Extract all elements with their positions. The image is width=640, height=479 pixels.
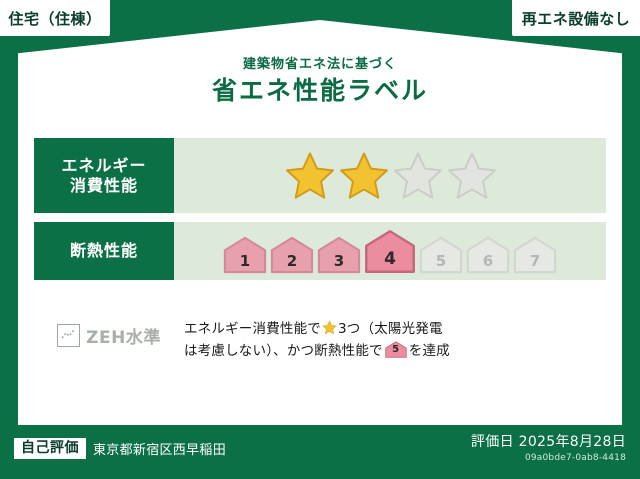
energy-performance-row: エネルギー 消費性能	[34, 138, 606, 213]
grade-badge: 2	[270, 236, 314, 274]
evaluation-date: 評価日 2025年8月28日	[471, 433, 626, 451]
inline-star-icon	[322, 320, 337, 335]
energy-performance-value	[174, 138, 606, 213]
grade-badge: 3	[317, 236, 361, 274]
note-text-part3: を達成	[409, 343, 450, 359]
insulation-label-line1: 断熱性能	[70, 241, 138, 261]
renewable-equipment-label: 再エネ設備なし	[522, 8, 631, 29]
star-rating	[284, 150, 498, 202]
evaluation-date-value: 2025年8月28日	[519, 434, 626, 450]
renewable-equipment-badge: 再エネ設備なし	[512, 0, 640, 36]
building-type-badge: 住宅（住棟）	[0, 0, 110, 36]
title-main: 省エネ性能ラベル	[18, 75, 622, 108]
insulation-performance-value: 1234567	[174, 222, 606, 280]
grade-badge: 7	[513, 236, 557, 274]
energy-label-line2: 消費性能	[70, 176, 138, 196]
star-empty-icon	[392, 150, 444, 202]
footer-right-group: 評価日 2025年8月28日 09a0bde7-0ab8-4418	[471, 433, 626, 463]
note-text-part2: は考慮しない）、かつ断熱性能で	[184, 343, 383, 359]
footer-left-group: 自己評価 東京都新宿区西早稲田	[14, 438, 226, 459]
insulation-performance-row: 断熱性能 1234567	[34, 222, 606, 280]
achievement-description: エネルギー消費性能で3つ（太陽光発電は考慮しない）、かつ断熱性能で5を達成	[184, 316, 606, 363]
star-empty-icon	[446, 150, 498, 202]
star-filled-icon	[284, 150, 336, 202]
page-title: 建築物省エネ法に基づく 省エネ性能ラベル	[18, 57, 622, 107]
grade-scale: 1234567	[223, 229, 557, 274]
insulation-performance-label: 断熱性能	[34, 222, 174, 280]
star-filled-icon	[338, 150, 390, 202]
inline-grade-value: 5	[385, 342, 407, 359]
property-address: 東京都新宿区西早稲田	[93, 439, 226, 458]
energy-performance-label: 住宅（住棟） 再エネ設備なし 建築物省エネ法に基づく 省エネ性能ラベル エネルギ…	[0, 0, 640, 479]
evaluation-date-label: 評価日	[471, 434, 514, 450]
self-evaluation-badge: 自己評価	[14, 438, 86, 459]
energy-label-line1: エネルギー	[61, 156, 146, 176]
energy-performance-label: エネルギー 消費性能	[34, 138, 174, 213]
document-id: 09a0bde7-0ab8-4418	[471, 453, 626, 463]
building-type-label: 住宅（住棟）	[8, 8, 101, 29]
zeh-standard-label: ZEH水準	[86, 323, 161, 348]
grade-badge: 4	[364, 229, 416, 274]
note-star-count: 3つ（太陽光発電	[338, 321, 443, 337]
label-footer: 自己評価 東京都新宿区西早稲田 評価日 2025年8月28日 09a0bde7-…	[0, 425, 640, 479]
note-text-part1: エネルギー消費性能で	[184, 321, 321, 337]
zeh-standard-block: ZEH水準	[34, 316, 184, 348]
inline-grade-badge: 5	[385, 341, 407, 358]
grade-badge: 6	[466, 236, 510, 274]
zeh-note: ZEH水準 エネルギー消費性能で3つ（太陽光発電は考慮しない）、かつ断熱性能で5…	[34, 316, 606, 363]
title-subtitle: 建築物省エネ法に基づく	[18, 57, 622, 73]
checkbox-unchecked-icon	[57, 324, 80, 347]
grade-badge: 5	[419, 236, 463, 274]
label-panel: 建築物省エネ法に基づく 省エネ性能ラベル エネルギー 消費性能 断熱性能	[18, 20, 622, 425]
grade-badge: 1	[223, 236, 267, 274]
